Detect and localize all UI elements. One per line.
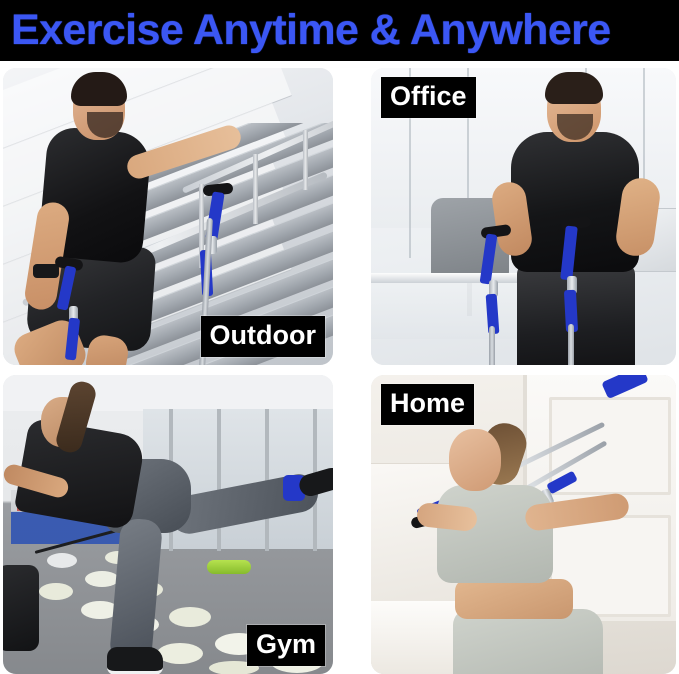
hair — [545, 72, 603, 104]
panel-office[interactable]: Office — [371, 68, 676, 365]
band-tube-right — [568, 324, 574, 365]
midriff — [455, 579, 573, 619]
panel-outdoor[interactable]: Outdoor — [3, 68, 333, 365]
hair — [71, 72, 127, 106]
panel-label-office: Office — [381, 77, 476, 118]
standing-leg — [109, 517, 163, 664]
rail-post — [253, 154, 258, 224]
panel-label-gym: Gym — [247, 625, 325, 666]
band-tube-left — [489, 326, 495, 365]
panel-gym[interactable]: Gym — [3, 375, 333, 674]
shoe-standing — [107, 647, 163, 674]
head — [449, 429, 501, 491]
infographic-page: Exercise Anytime & Anywhere — [0, 0, 679, 674]
sports-bra — [437, 485, 553, 583]
panel-label-outdoor: Outdoor — [201, 316, 325, 357]
person-outdoor — [21, 74, 171, 365]
page-title: Exercise Anytime & Anywhere — [0, 9, 611, 52]
person-home — [407, 405, 657, 674]
header-banner: Exercise Anytime & Anywhere — [0, 0, 679, 61]
wrist-watch — [33, 264, 59, 278]
panel-label-home: Home — [381, 384, 474, 425]
panel-home[interactable]: Home — [371, 375, 676, 674]
rail-post — [303, 130, 308, 190]
photo-grid: Outdoor — [0, 68, 679, 674]
